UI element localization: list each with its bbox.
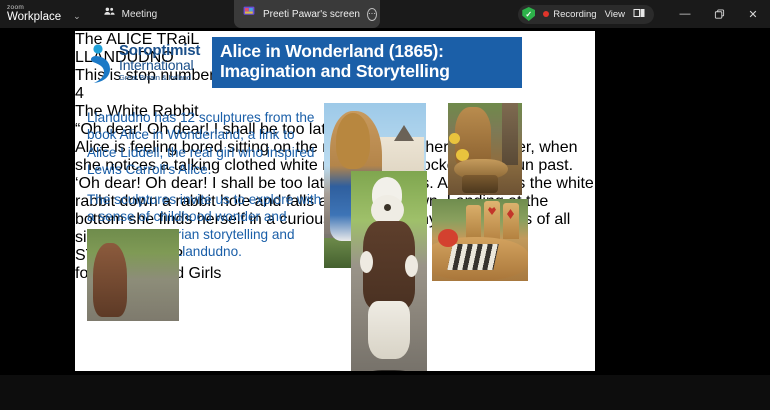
- title-bar: zoom Workplace ⌄ Meeting: [0, 0, 770, 28]
- logo-line-3: Great Britain & Ireland: [119, 73, 200, 83]
- maximize-button[interactable]: [702, 0, 736, 28]
- tab-more-options-button[interactable]: ⋯: [367, 8, 377, 21]
- recording-status-pill[interactable]: ✓ Recording View: [518, 5, 654, 24]
- shared-screen-tab[interactable]: Preeti Pawar's screen ⋯: [234, 0, 380, 28]
- meeting-tab[interactable]: Meeting: [103, 5, 158, 23]
- presentation-slide: Soroptimist International Great Britain …: [75, 31, 595, 371]
- slide-paragraph-1: Llandudno has 12 sculptures from the boo…: [87, 109, 327, 178]
- shared-screen-tab-label: Preeti Pawar's screen: [263, 9, 360, 20]
- shared-content-stage: Soroptimist International Great Britain …: [0, 28, 770, 375]
- close-button[interactable]: ✕: [736, 0, 770, 28]
- view-label[interactable]: View: [605, 9, 625, 20]
- chevron-down-icon[interactable]: ⌄: [73, 11, 81, 22]
- people-icon: [103, 5, 116, 23]
- title-bar-right-controls: ✓ Recording View —: [518, 0, 770, 28]
- zoom-workplace-logo[interactable]: zoom Workplace ⌄: [0, 5, 81, 24]
- slide-title: Alice in Wonderland (1865): Imagination …: [212, 37, 522, 88]
- shield-check-icon: ✓: [522, 7, 535, 21]
- meeting-label: Meeting: [122, 9, 158, 20]
- recording-label: Recording: [553, 9, 596, 20]
- logo-line-1: Soroptimist: [119, 43, 200, 58]
- brand-main-text: Workplace: [7, 12, 61, 24]
- photo-tweedledum-tweedledee: [87, 229, 179, 321]
- zoom-meeting-window: zoom Workplace ⌄ Meeting: [0, 0, 770, 410]
- soroptimist-logo: Soroptimist International Great Britain …: [89, 39, 219, 95]
- screen-share-icon: [242, 5, 256, 23]
- photo-tea-party-table: [432, 199, 528, 281]
- recording-dot-icon: [543, 11, 549, 17]
- slide-title-line-1: Alice in Wonderland (1865):: [220, 42, 514, 62]
- photo-white-rabbit-sculpture: [351, 171, 427, 371]
- photo-carved-bench: [448, 103, 522, 195]
- slide-title-line-2: Imagination and Storytelling: [220, 62, 514, 82]
- minimize-button[interactable]: —: [668, 0, 702, 28]
- logo-line-2: International: [119, 58, 200, 73]
- view-layout-icon[interactable]: [633, 5, 645, 23]
- recording-indicator[interactable]: Recording: [543, 9, 596, 20]
- soroptimist-logo-mark: [89, 43, 115, 91]
- sign-heart-number: 4: [75, 85, 84, 102]
